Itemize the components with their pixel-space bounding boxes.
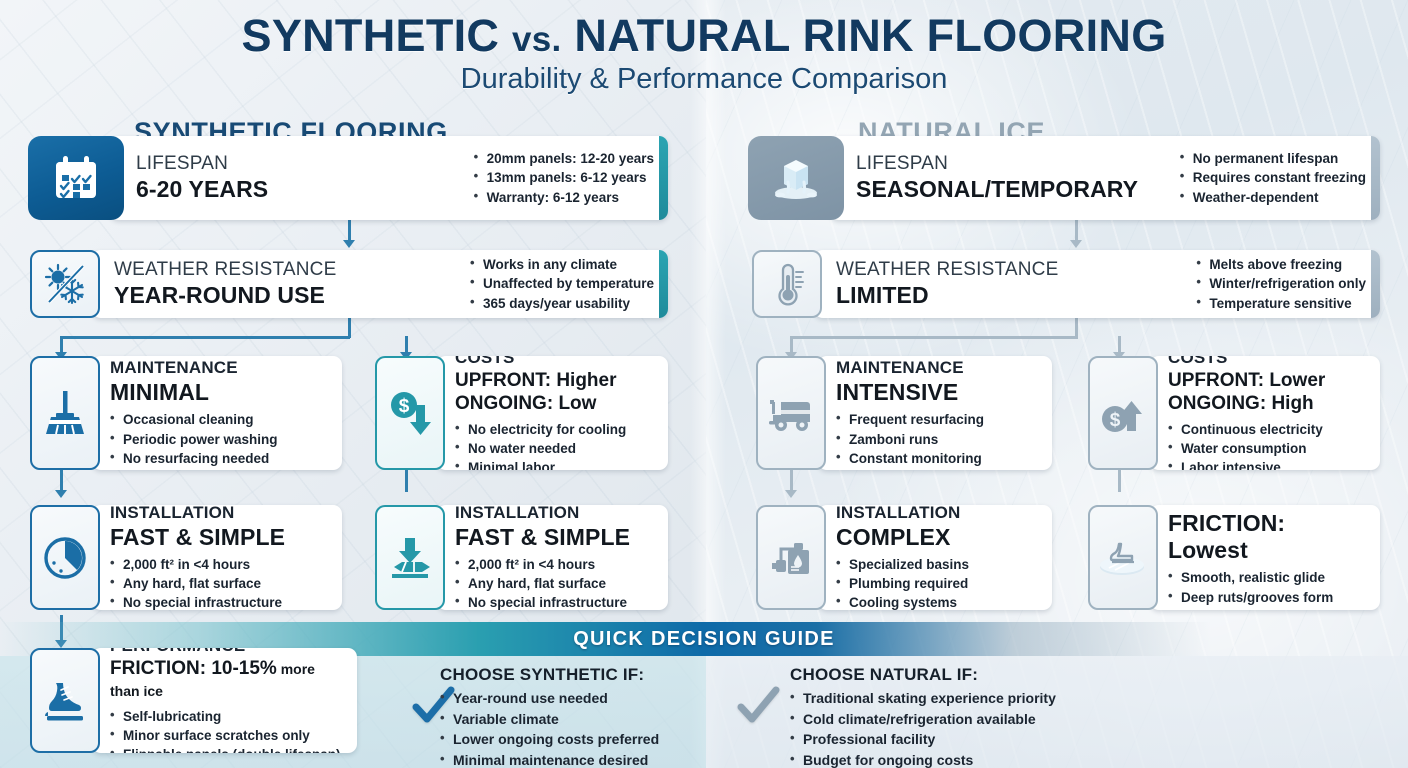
connector-right-3 — [790, 470, 793, 492]
card-text: COSTS UPFRONT: Lower ONGOING: High Conti… — [1168, 356, 1325, 470]
card-panel: COSTS UPFRONT: Lower ONGOING: High Conti… — [1150, 356, 1380, 470]
dollar-up-arrow-icon: $ — [1099, 387, 1147, 439]
card-text: INSTALLATION FAST & SIMPLE 2,000 ft² in … — [110, 505, 285, 610]
list-item: Warranty: 6-12 years — [474, 188, 654, 207]
calendar-icon — [49, 151, 103, 205]
panel-install-icon — [384, 533, 436, 583]
title-part-1: SYNTHETIC — [242, 10, 500, 61]
zamboni-icon-tile — [756, 356, 826, 470]
card-synthetic-performance: PERFORMANCE FRICTION: 10-15% more than i… — [30, 648, 357, 753]
list-item: Deep ruts/grooves form — [1168, 588, 1366, 607]
list-item: No special infrastructure — [110, 593, 285, 610]
list-item: Any hard, flat surface — [455, 574, 630, 593]
card-natural-costs: $ COSTS UPFRONT: Lower ONGOING: High Con… — [1088, 356, 1380, 470]
card-text: LIFESPAN 6-20 YEARS — [136, 153, 268, 203]
thermometer-icon — [766, 261, 808, 307]
infographic-root: SYNTHETIC vs. NATURAL RINK FLOORING Dura… — [0, 0, 1408, 768]
card-panel: INSTALLATION FAST & SIMPLE 2,000 ft² in … — [437, 505, 668, 610]
connector-left-1 — [348, 220, 351, 242]
card-value: FRICTION: Lowest — [1168, 510, 1366, 564]
page-header: SYNTHETIC vs. NATURAL RINK FLOORING Dura… — [0, 12, 1408, 96]
broom-icon — [43, 386, 87, 440]
card-label: INSTALLATION — [836, 505, 969, 523]
card-panel: PERFORMANCE FRICTION: Lowest Smooth, rea… — [1150, 505, 1380, 610]
list-item: Traditional skating experience priority — [790, 688, 1120, 709]
list-item: Specialized basins — [836, 555, 969, 574]
card-label: INSTALLATION — [110, 505, 285, 523]
quick-guide-synthetic-head: CHOOSE SYNTHETIC IF: — [440, 665, 720, 685]
sun-snowflake-icon — [42, 261, 88, 307]
melting-ice-cube-icon-tile — [748, 136, 844, 220]
list-item: Cooling systems — [836, 593, 969, 610]
dollar-down-arrow-icon: $ — [386, 387, 434, 439]
card-bullets: Self-lubricating Minor surface scratches… — [110, 707, 343, 753]
list-item: Temperature sensitive — [1196, 294, 1366, 313]
card-label: PERFORMANCE — [1168, 505, 1366, 509]
svg-text:$: $ — [1110, 410, 1121, 431]
dollar-down-arrow-icon-tile: $ — [375, 356, 445, 470]
list-item: Constant monitoring — [836, 449, 984, 468]
title-part-2: NATURAL RINK FLOORING — [574, 10, 1166, 61]
connector-left-2 — [348, 318, 351, 338]
clock-icon-tile — [30, 505, 100, 610]
quick-guide-natural-head: CHOOSE NATURAL IF: — [790, 665, 1120, 685]
list-item: Any hard, flat surface — [110, 574, 285, 593]
card-value: LIMITED — [836, 282, 1058, 309]
melting-ice-cube-icon — [768, 152, 824, 204]
card-natural-performance: PERFORMANCE FRICTION: Lowest Smooth, rea… — [1088, 505, 1380, 610]
list-item: Cold climate/refrigeration available — [790, 709, 1120, 730]
list-item: Occasional cleaning — [110, 410, 278, 429]
list-item: Works in any climate — [470, 255, 654, 274]
list-item: 2,000 ft² in <4 hours — [455, 555, 630, 574]
card-bullets: Melts above freezing Winter/refrigeratio… — [1196, 255, 1366, 312]
panel-install-icon-tile — [375, 505, 445, 610]
clock-icon — [40, 533, 90, 583]
list-item: Professional facility — [790, 729, 1120, 750]
list-item: Year-round use needed — [440, 688, 720, 709]
card-value: INTENSIVE — [836, 379, 984, 406]
card-value: COMPLEX — [836, 524, 969, 551]
list-item: Unaffected by temperature — [470, 274, 654, 293]
card-value: SEASONAL/TEMPORARY — [856, 176, 1138, 203]
ice-skate-icon-tile — [30, 648, 100, 753]
card-bullets: 20mm panels: 12-20 years 13mm panels: 6-… — [474, 149, 654, 206]
connector-right-2h — [790, 336, 1078, 339]
list-item: No water needed — [455, 439, 626, 458]
card-text: COSTS UPFRONT: Higher ONGOING: Low No el… — [455, 356, 626, 470]
card-value: FAST & SIMPLE — [110, 524, 285, 551]
refrigeration-plant-icon — [766, 534, 816, 582]
card-synthetic-weather: WEATHER RESISTANCE YEAR-ROUND USE Works … — [30, 250, 668, 318]
card-text: MAINTENANCE INTENSIVE Frequent resurfaci… — [836, 358, 984, 468]
card-panel: LIFESPAN SEASONAL/TEMPORARY No permanent… — [830, 136, 1380, 220]
quick-guide-natural: CHOOSE NATURAL IF: Traditional skating e… — [790, 665, 1120, 768]
card-panel: MAINTENANCE MINIMAL Occasional cleaning … — [92, 356, 342, 470]
connector-right-3b — [1118, 470, 1121, 492]
list-item: Minimal labor — [455, 458, 626, 470]
card-natural-weather: WEATHER RESISTANCE LIMITED Melts above f… — [752, 250, 1380, 318]
list-item: Labor intensive — [1168, 458, 1325, 470]
card-label: LIFESPAN — [136, 153, 268, 175]
card-label: MAINTENANCE — [110, 358, 278, 378]
sun-snowflake-icon-tile — [30, 250, 100, 318]
connector-left-3b — [405, 470, 408, 492]
card-natural-installation: INSTALLATION COMPLEX Specialized basins … — [756, 505, 1052, 610]
card-value-ongoing: ONGOING: Low — [455, 393, 626, 416]
list-item: Variable climate — [440, 709, 720, 730]
card-panel: PERFORMANCE FRICTION: 10-15% more than i… — [92, 648, 357, 753]
card-bullets: Frequent resurfacing Zamboni runs Consta… — [836, 410, 984, 467]
card-accent-bar — [1371, 136, 1380, 220]
card-synthetic-maintenance: MAINTENANCE MINIMAL Occasional cleaning … — [30, 356, 342, 470]
card-label: MAINTENANCE — [836, 358, 984, 378]
ice-skate-icon — [40, 677, 90, 725]
card-natural-maintenance: MAINTENANCE INTENSIVE Frequent resurfaci… — [756, 356, 1052, 470]
list-item: No special infrastructure — [455, 593, 630, 610]
card-bullets: Continuous electricity Water consumption… — [1168, 420, 1325, 470]
connector-arrow-right-3 — [785, 490, 797, 498]
card-panel: WEATHER RESISTANCE YEAR-ROUND USE Works … — [92, 250, 668, 318]
card-label: COSTS — [1168, 356, 1325, 369]
refrigeration-plant-icon-tile — [756, 505, 826, 610]
zamboni-icon — [765, 392, 817, 434]
dollar-up-arrow-icon-tile: $ — [1088, 356, 1158, 470]
list-item: Zamboni runs — [836, 430, 984, 449]
card-text: PERFORMANCE FRICTION: 10-15% more than i… — [110, 648, 343, 753]
calendar-icon-tile — [28, 136, 124, 220]
list-item: Plumbing required — [836, 574, 969, 593]
list-item: Smooth, realistic glide — [1168, 568, 1366, 587]
list-item: Continuous electricity — [1168, 420, 1325, 439]
card-bullets: 2,000 ft² in <4 hours Any hard, flat sur… — [110, 555, 285, 610]
card-natural-lifespan: LIFESPAN SEASONAL/TEMPORARY No permanent… — [748, 136, 1380, 220]
page-subtitle: Durability & Performance Comparison — [0, 63, 1408, 96]
checkmark-icon-natural-wrap — [735, 683, 781, 729]
quick-guide-synthetic-bullets: Year-round use needed Variable climate L… — [440, 688, 720, 768]
list-item: Weather-dependent — [1180, 188, 1366, 207]
card-panel: INSTALLATION FAST & SIMPLE 2,000 ft² in … — [92, 505, 342, 610]
list-item: Requires resurfacing — [1168, 607, 1366, 610]
card-text: INSTALLATION FAST & SIMPLE 2,000 ft² in … — [455, 505, 630, 610]
card-synthetic-lifespan: LIFESPAN 6-20 YEARS 20mm panels: 12-20 y… — [28, 136, 668, 220]
quick-guide-banner-label: QUICK DECISION GUIDE — [573, 628, 835, 651]
card-bullets: Smooth, realistic glide Deep ruts/groove… — [1168, 568, 1366, 610]
card-bullets: No permanent lifespan Requires constant … — [1180, 149, 1366, 206]
connector-arrow-left-3 — [55, 490, 67, 498]
list-item: Budget for ongoing costs — [790, 750, 1120, 768]
card-accent-bar — [1371, 250, 1380, 318]
list-item: Lower ongoing costs preferred — [440, 729, 720, 750]
card-bullets: Works in any climate Unaffected by tempe… — [470, 255, 654, 312]
list-item: Requires constant freezing — [1180, 168, 1366, 187]
card-panel: WEATHER RESISTANCE LIMITED Melts above f… — [814, 250, 1380, 318]
card-panel: MAINTENANCE INTENSIVE Frequent resurfaci… — [818, 356, 1052, 470]
card-value-upfront: UPFRONT: Lower — [1168, 370, 1325, 393]
card-label: LIFESPAN — [856, 153, 1138, 175]
card-value: 6-20 YEARS — [136, 176, 268, 203]
card-value-upfront: UPFRONT: Higher — [455, 370, 626, 393]
connector-arrow-right-1 — [1070, 240, 1082, 248]
card-accent-bar — [659, 136, 668, 220]
card-label: COSTS — [455, 356, 626, 369]
card-text: PERFORMANCE FRICTION: Lowest Smooth, rea… — [1168, 505, 1366, 610]
connector-right-2 — [1075, 318, 1078, 338]
skate-on-ice-icon-tile — [1088, 505, 1158, 610]
card-value: MINIMAL — [110, 379, 278, 406]
list-item: Periodic power washing — [110, 430, 278, 449]
card-label: INSTALLATION — [455, 505, 630, 523]
quick-guide-synthetic: CHOOSE SYNTHETIC IF: Year-round use need… — [440, 665, 720, 768]
list-item: Self-lubricating — [110, 707, 343, 726]
list-item: Melts above freezing — [1196, 255, 1366, 274]
list-item: Minor surface scratches only — [110, 726, 343, 745]
card-panel: COSTS UPFRONT: Higher ONGOING: Low No el… — [437, 356, 668, 470]
list-item: Water consumption — [1168, 439, 1325, 458]
connector-right-1 — [1075, 220, 1078, 242]
list-item: Frequent resurfacing — [836, 410, 984, 429]
card-panel: LIFESPAN 6-20 YEARS 20mm panels: 12-20 y… — [110, 136, 668, 220]
list-item: Flippable panels (double lifespan) — [110, 745, 343, 753]
broom-icon-tile — [30, 356, 100, 470]
connector-left-2h — [60, 336, 350, 339]
card-label: PERFORMANCE — [110, 648, 343, 657]
skate-on-ice-icon — [1097, 536, 1149, 580]
thermometer-icon-tile — [752, 250, 822, 318]
card-text: WEATHER RESISTANCE YEAR-ROUND USE — [114, 259, 336, 309]
card-synthetic-costs: $ COSTS UPFRONT: Higher ONGOING: Low No … — [375, 356, 668, 470]
title-vs: vs. — [512, 20, 562, 59]
list-item: 20mm panels: 12-20 years — [474, 149, 654, 168]
card-panel: INSTALLATION COMPLEX Specialized basins … — [818, 505, 1052, 610]
checkmark-icon — [735, 683, 781, 729]
page-title: SYNTHETIC vs. NATURAL RINK FLOORING — [0, 12, 1408, 60]
list-item: Winter/refrigeration only — [1196, 274, 1366, 293]
svg-text:$: $ — [399, 396, 410, 417]
list-item: Minimal maintenance desired — [440, 750, 720, 768]
list-item: No electricity for cooling — [455, 420, 626, 439]
card-bullets: 2,000 ft² in <4 hours Any hard, flat sur… — [455, 555, 630, 610]
card-value: FAST & SIMPLE — [455, 524, 630, 551]
list-item: No resurfacing needed — [110, 449, 278, 468]
card-label: WEATHER RESISTANCE — [836, 259, 1058, 281]
card-bullets: Specialized basins Plumbing required Coo… — [836, 555, 969, 610]
list-item: 13mm panels: 6-12 years — [474, 168, 654, 187]
quick-guide-natural-bullets: Traditional skating experience priority … — [790, 688, 1120, 768]
card-synthetic-installation: INSTALLATION FAST & SIMPLE 2,000 ft² in … — [30, 505, 342, 610]
card-value: FRICTION: 10-15% more than ice — [110, 658, 343, 704]
connector-arrow-left-1 — [343, 240, 355, 248]
card-text: INSTALLATION COMPLEX Specialized basins … — [836, 505, 969, 610]
card-accent-bar — [659, 250, 668, 318]
card-text: LIFESPAN SEASONAL/TEMPORARY — [856, 153, 1138, 203]
card-text: MAINTENANCE MINIMAL Occasional cleaning … — [110, 358, 278, 468]
connector-left-3 — [60, 470, 63, 492]
card-bullets: Occasional cleaning Periodic power washi… — [110, 410, 278, 467]
list-item: 2,000 ft² in <4 hours — [110, 555, 285, 574]
list-item: No permanent lifespan — [1180, 149, 1366, 168]
card-value: YEAR-ROUND USE — [114, 282, 336, 309]
card-synthetic-installation-2: INSTALLATION FAST & SIMPLE 2,000 ft² in … — [375, 505, 668, 610]
card-text: WEATHER RESISTANCE LIMITED — [836, 259, 1058, 309]
card-bullets: No electricity for cooling No water need… — [455, 420, 626, 470]
list-item: 365 days/year usability — [470, 294, 654, 313]
card-label: WEATHER RESISTANCE — [114, 259, 336, 281]
card-value-ongoing: ONGOING: High — [1168, 393, 1325, 416]
card-value-friction: FRICTION: 10-15% — [110, 658, 277, 679]
